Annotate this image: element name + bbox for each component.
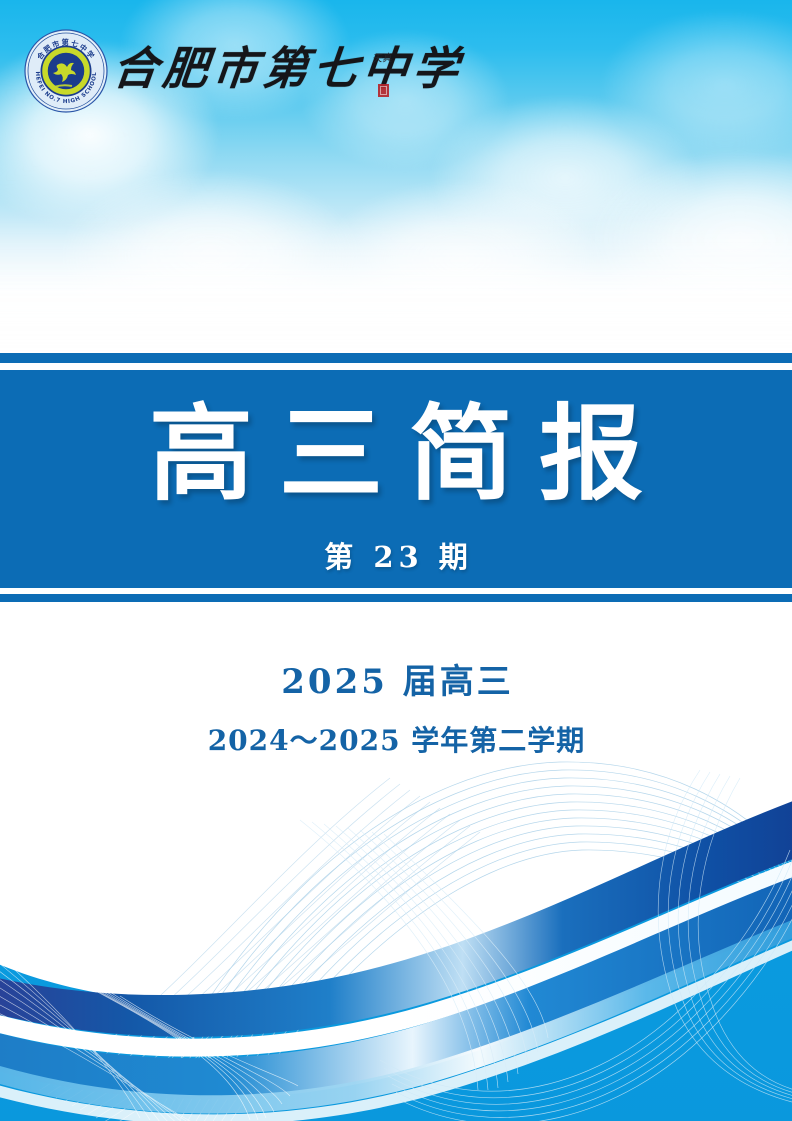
- bottom-wave-artwork: [0, 760, 792, 1121]
- calligrapher-signature-block: 天真: [372, 54, 406, 100]
- school-name-text: 合肥市第七中学: [111, 46, 466, 91]
- banner-bottom-stripe: [0, 594, 792, 602]
- subtitle-block: 2025 届高三 2024～2025 学年第二学期: [0, 602, 792, 812]
- title-banner: 高三简报 第 23 期: [0, 370, 792, 588]
- bulletin-cover-page: 合肥市第七中学 HEFEI NO.7 HIGH SCHOOL 合肥市第七中学 天…: [0, 0, 792, 1121]
- cloud-haze-band: [0, 265, 792, 353]
- signature-text: 天真: [372, 53, 407, 66]
- school-name-calligraphy: 合肥市第七中学: [113, 37, 463, 99]
- issue-number: 第 23 期: [0, 534, 792, 576]
- grade-year-label: 2025 届高三: [0, 664, 792, 701]
- red-seal-icon: [378, 84, 389, 97]
- wave-graphic: [0, 760, 792, 1121]
- school-logo-icon: 合肥市第七中学 HEFEI NO.7 HIGH SCHOOL: [24, 29, 108, 113]
- school-logo: 合肥市第七中学 HEFEI NO.7 HIGH SCHOOL: [24, 29, 108, 113]
- academic-term-label: 2024～2025 学年第二学期: [0, 726, 792, 757]
- banner-top-stripe: [0, 353, 792, 363]
- bulletin-title: 高三简报: [0, 396, 792, 512]
